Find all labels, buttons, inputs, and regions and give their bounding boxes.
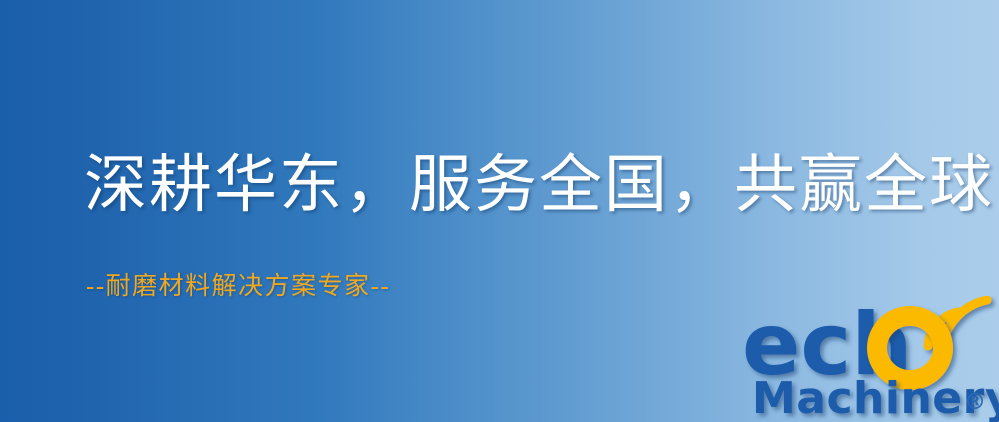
promotional-banner: 深耕华东，服务全国，共赢全球 --耐磨材料解决方案专家-- ech (0, 0, 999, 422)
logo-tagline: Machinery (752, 373, 999, 422)
echo-machinery-logo[interactable]: ech Machinery ® (742, 296, 999, 422)
banner-headline: 深耕华东，服务全国，共赢全球 (84, 152, 994, 219)
logo-registered-mark: ® (964, 390, 986, 415)
banner-subtitle: --耐磨材料解决方案专家-- (86, 266, 390, 302)
